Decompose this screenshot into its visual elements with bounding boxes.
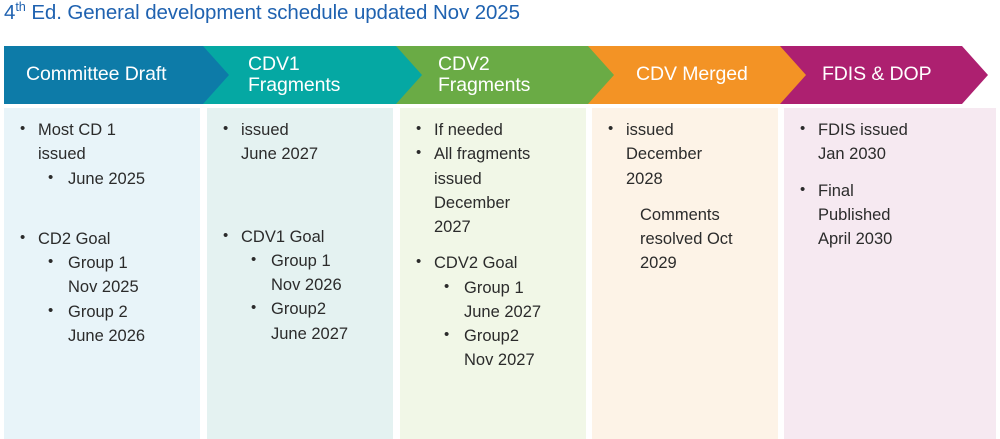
page-title-superscript: th xyxy=(15,0,25,14)
stage-chevron-label: CDV1 Fragments xyxy=(248,54,340,96)
stage-bullet: Final Published April 2030 xyxy=(792,179,988,252)
stage-panel-committee-draft: Most CD 1 issuedJune 2025CD2 GoalGroup 1… xyxy=(4,108,200,439)
stage-bullet: issued December 2028 xyxy=(600,118,770,191)
stage-chevron-fdis-dop[interactable]: FDIS & DOP xyxy=(780,46,988,104)
stage-sub-bullet: Group2 June 2027 xyxy=(215,297,385,346)
page-title-prefix: 4 xyxy=(4,1,15,24)
stage-chevron-committee-draft[interactable]: Committee Draft xyxy=(4,46,230,104)
stage-sub-bullet: Group2 Nov 2027 xyxy=(408,324,578,373)
stage-bullet: issued June 2027 xyxy=(215,118,385,167)
stage-bullet: CDV2 Goal xyxy=(408,251,578,275)
stage-bullet: Most CD 1 issued xyxy=(12,118,192,167)
page-title: 4th Ed. General development schedule upd… xyxy=(4,1,520,25)
stage-panel-fdis-dop: FDIS issued Jan 2030Final Published Apri… xyxy=(784,108,996,439)
stage-bullet: If needed xyxy=(408,118,578,142)
stage-bullet: All fragments issued December 2027 xyxy=(408,142,578,239)
stage-chevron-label: CDV Merged xyxy=(636,64,748,85)
content-spacer xyxy=(792,167,988,179)
stage-sub-bullet: Group 2 June 2026 xyxy=(12,300,192,349)
stage-sub-bullet: Group 1 June 2027 xyxy=(408,276,578,325)
stage-bullet: CDV1 Goal xyxy=(215,225,385,249)
stage-chevron-label: CDV2 Fragments xyxy=(438,54,530,96)
stage-note-text: Comments resolved Oct 2029 xyxy=(600,203,770,276)
content-spacer xyxy=(12,191,192,227)
stage-panel-cdv1-fragments: issued June 2027CDV1 GoalGroup 1 Nov 202… xyxy=(207,108,393,439)
content-spacer xyxy=(600,191,770,203)
stage-chevron-cdv-merged[interactable]: CDV Merged xyxy=(588,46,808,104)
stage-panel-cdv2-fragments: If neededAll fragments issued December 2… xyxy=(400,108,586,439)
content-spacer xyxy=(408,239,578,251)
stage-sub-bullet: Group 1 Nov 2025 xyxy=(12,251,192,300)
stage-chevron-cdv1-fragments[interactable]: CDV1 Fragments xyxy=(203,46,423,104)
stage-chevron-cdv2-fragments[interactable]: CDV2 Fragments xyxy=(396,46,616,104)
stage-panel-content: If neededAll fragments issued December 2… xyxy=(400,108,586,373)
stage-panel-content: issued December 2028Comments resolved Oc… xyxy=(592,108,778,276)
stage-panel-cdv-merged: issued December 2028Comments resolved Oc… xyxy=(592,108,778,439)
stage-bullet: CD2 Goal xyxy=(12,227,192,251)
stage-panel-content: Most CD 1 issuedJune 2025CD2 GoalGroup 1… xyxy=(4,108,200,348)
stage-bullet: FDIS issued Jan 2030 xyxy=(792,118,988,167)
stage-chevron-label: Committee Draft xyxy=(26,64,166,85)
stage-sub-bullet: June 2025 xyxy=(12,167,192,191)
stage-chevron-row: Committee DraftCDV1 FragmentsCDV2 Fragme… xyxy=(0,46,1000,104)
stage-chevron-label: FDIS & DOP xyxy=(822,64,932,85)
content-spacer xyxy=(215,167,385,225)
page-title-rest: Ed. General development schedule updated… xyxy=(26,1,520,24)
stage-panel-content: FDIS issued Jan 2030Final Published Apri… xyxy=(784,108,996,251)
stage-panel-content: issued June 2027CDV1 GoalGroup 1 Nov 202… xyxy=(207,108,393,346)
stage-sub-bullet: Group 1 Nov 2026 xyxy=(215,249,385,298)
stage-panel-row: Most CD 1 issuedJune 2025CD2 GoalGroup 1… xyxy=(0,108,1000,439)
